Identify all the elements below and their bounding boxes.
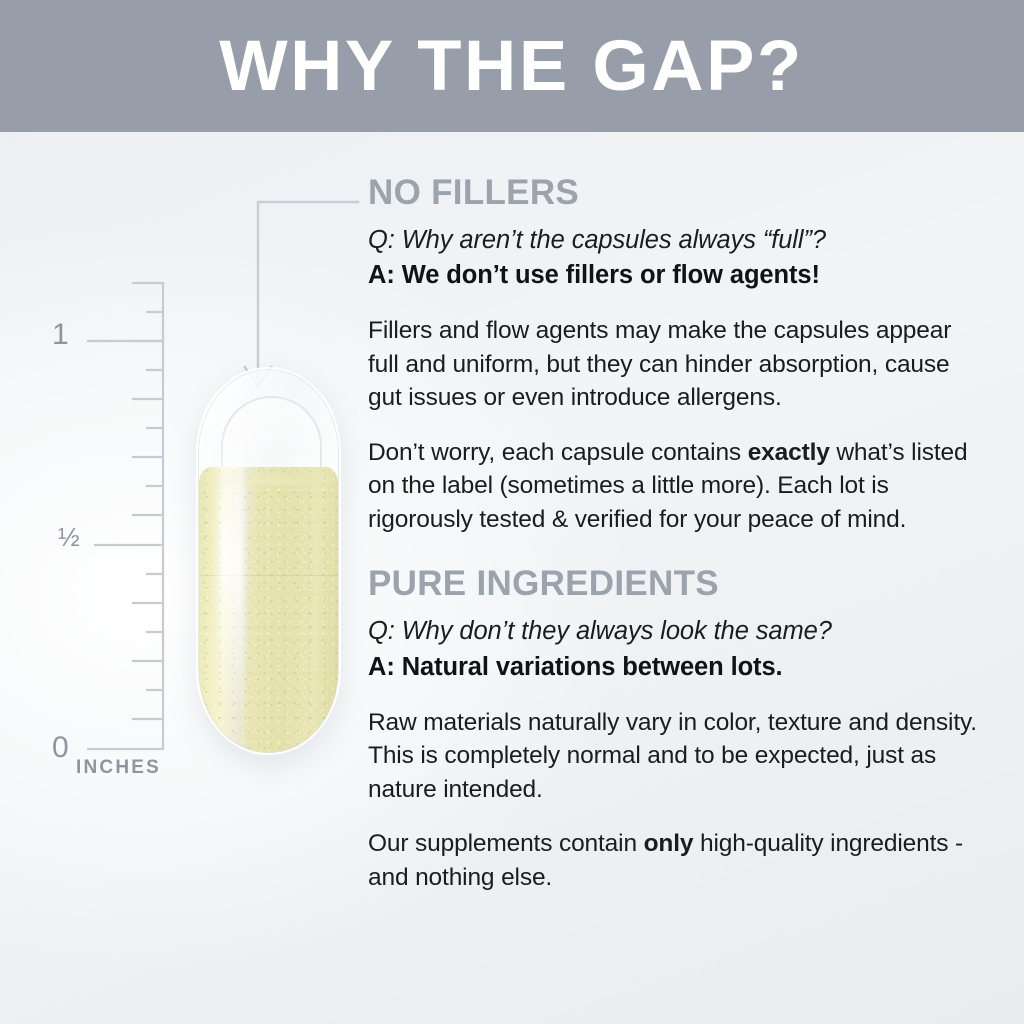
ruler-label-zero: 0	[52, 733, 69, 763]
ruler-label-one: 1	[52, 320, 69, 350]
answer-no-fillers: A: We don’t use fillers or flow agents!	[368, 259, 984, 293]
paragraph-fillers-effects: Fillers and flow agents may make the cap…	[368, 314, 984, 415]
infographic-page: WHY THE GAP?	[0, 0, 1024, 1024]
ruler-unit-label: INCHES	[76, 757, 161, 779]
capsule-illustration: 1 ½ 0 INCHES	[0, 132, 360, 1024]
question-pure-ingredients: Q: Why don’t they always look the same?	[368, 615, 984, 649]
capsule-image	[196, 367, 341, 755]
paragraph-high-quality-only: Our supplements contain only high-qualit…	[368, 827, 984, 894]
header-bar: WHY THE GAP?	[0, 0, 1024, 132]
paragraph-natural-variation: Raw materials naturally vary in color, t…	[368, 706, 984, 807]
ruler-label-half: ½	[58, 524, 80, 550]
paragraph-exact-dosage: Don’t worry, each capsule contains exact…	[368, 436, 984, 537]
content-column: NO FILLERS Q: Why aren’t the capsules al…	[368, 175, 984, 894]
section-heading-no-fillers: NO FILLERS	[368, 175, 984, 212]
section-heading-pure-ingredients: PURE INGREDIENTS	[368, 566, 984, 603]
section-pure-ingredients: PURE INGREDIENTS Q: Why don’t they alway…	[368, 566, 984, 894]
question-no-fillers: Q: Why aren’t the capsules always “full”…	[368, 224, 984, 258]
section-no-fillers: NO FILLERS Q: Why aren’t the capsules al…	[368, 175, 984, 536]
capsule-specular-highlight	[218, 419, 244, 719]
answer-pure-ingredients: A: Natural variations between lots.	[368, 651, 984, 685]
page-title: WHY THE GAP?	[220, 31, 805, 102]
